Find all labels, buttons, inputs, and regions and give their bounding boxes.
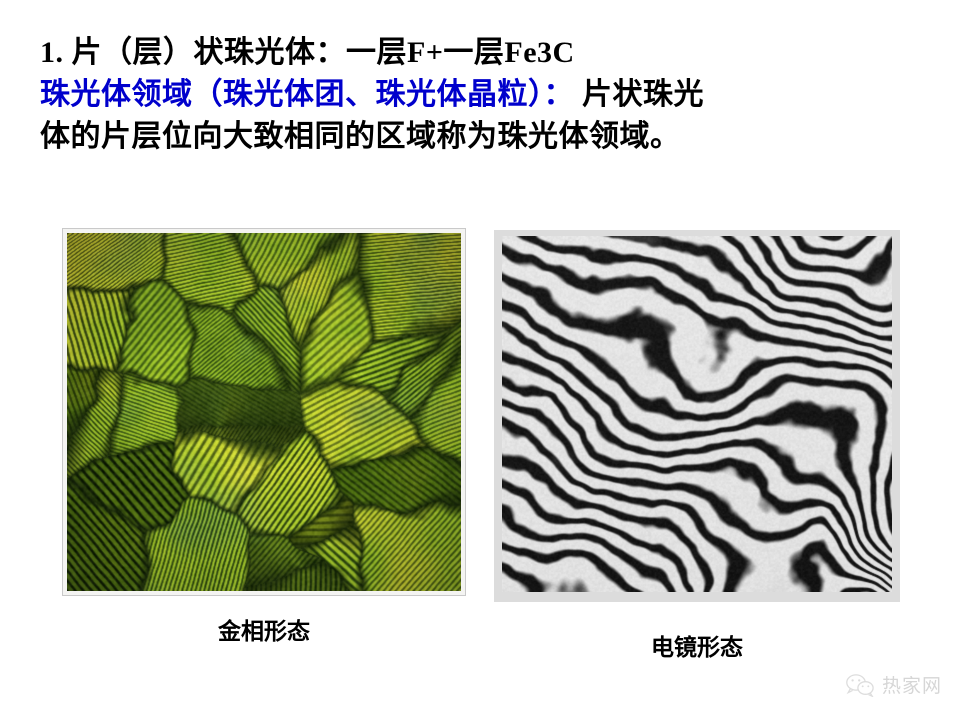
title-line-2: 珠光体领域（珠光体团、珠光体晶粒）： 片状珠光	[40, 74, 930, 116]
title-line-2-highlight: 珠光体领域（珠光体团、珠光体晶粒）：	[40, 78, 574, 111]
optical-micrograph-figure	[62, 228, 466, 596]
title-line-1-text: 1. 片（层）状珠光体：一层F+一层Fe3C	[40, 36, 575, 69]
title-line-1: 1. 片（层）状珠光体：一层F+一层Fe3C	[40, 32, 930, 74]
title-line-3-text: 体的片层位向大致相同的区域称为珠光体领域。	[40, 120, 681, 153]
slide-title-block: 1. 片（层）状珠光体：一层F+一层Fe3C 珠光体领域（珠光体团、珠光体晶粒）…	[40, 32, 930, 158]
sem-micrograph-figure	[494, 230, 900, 602]
title-line-3: 体的片层位向大致相同的区域称为珠光体领域。	[40, 116, 930, 158]
optical-micrograph-image	[67, 233, 461, 591]
watermark-label: 热家网	[882, 671, 942, 698]
sem-micrograph-caption: 电镜形态	[494, 628, 900, 662]
watermark: 热家网	[845, 671, 942, 698]
optical-micrograph-caption: 金相形态	[62, 612, 466, 646]
title-line-2-text: 片状珠光	[574, 78, 704, 111]
wechat-icon	[845, 673, 875, 697]
sem-micrograph-image	[502, 236, 892, 592]
figures-row	[0, 228, 960, 608]
